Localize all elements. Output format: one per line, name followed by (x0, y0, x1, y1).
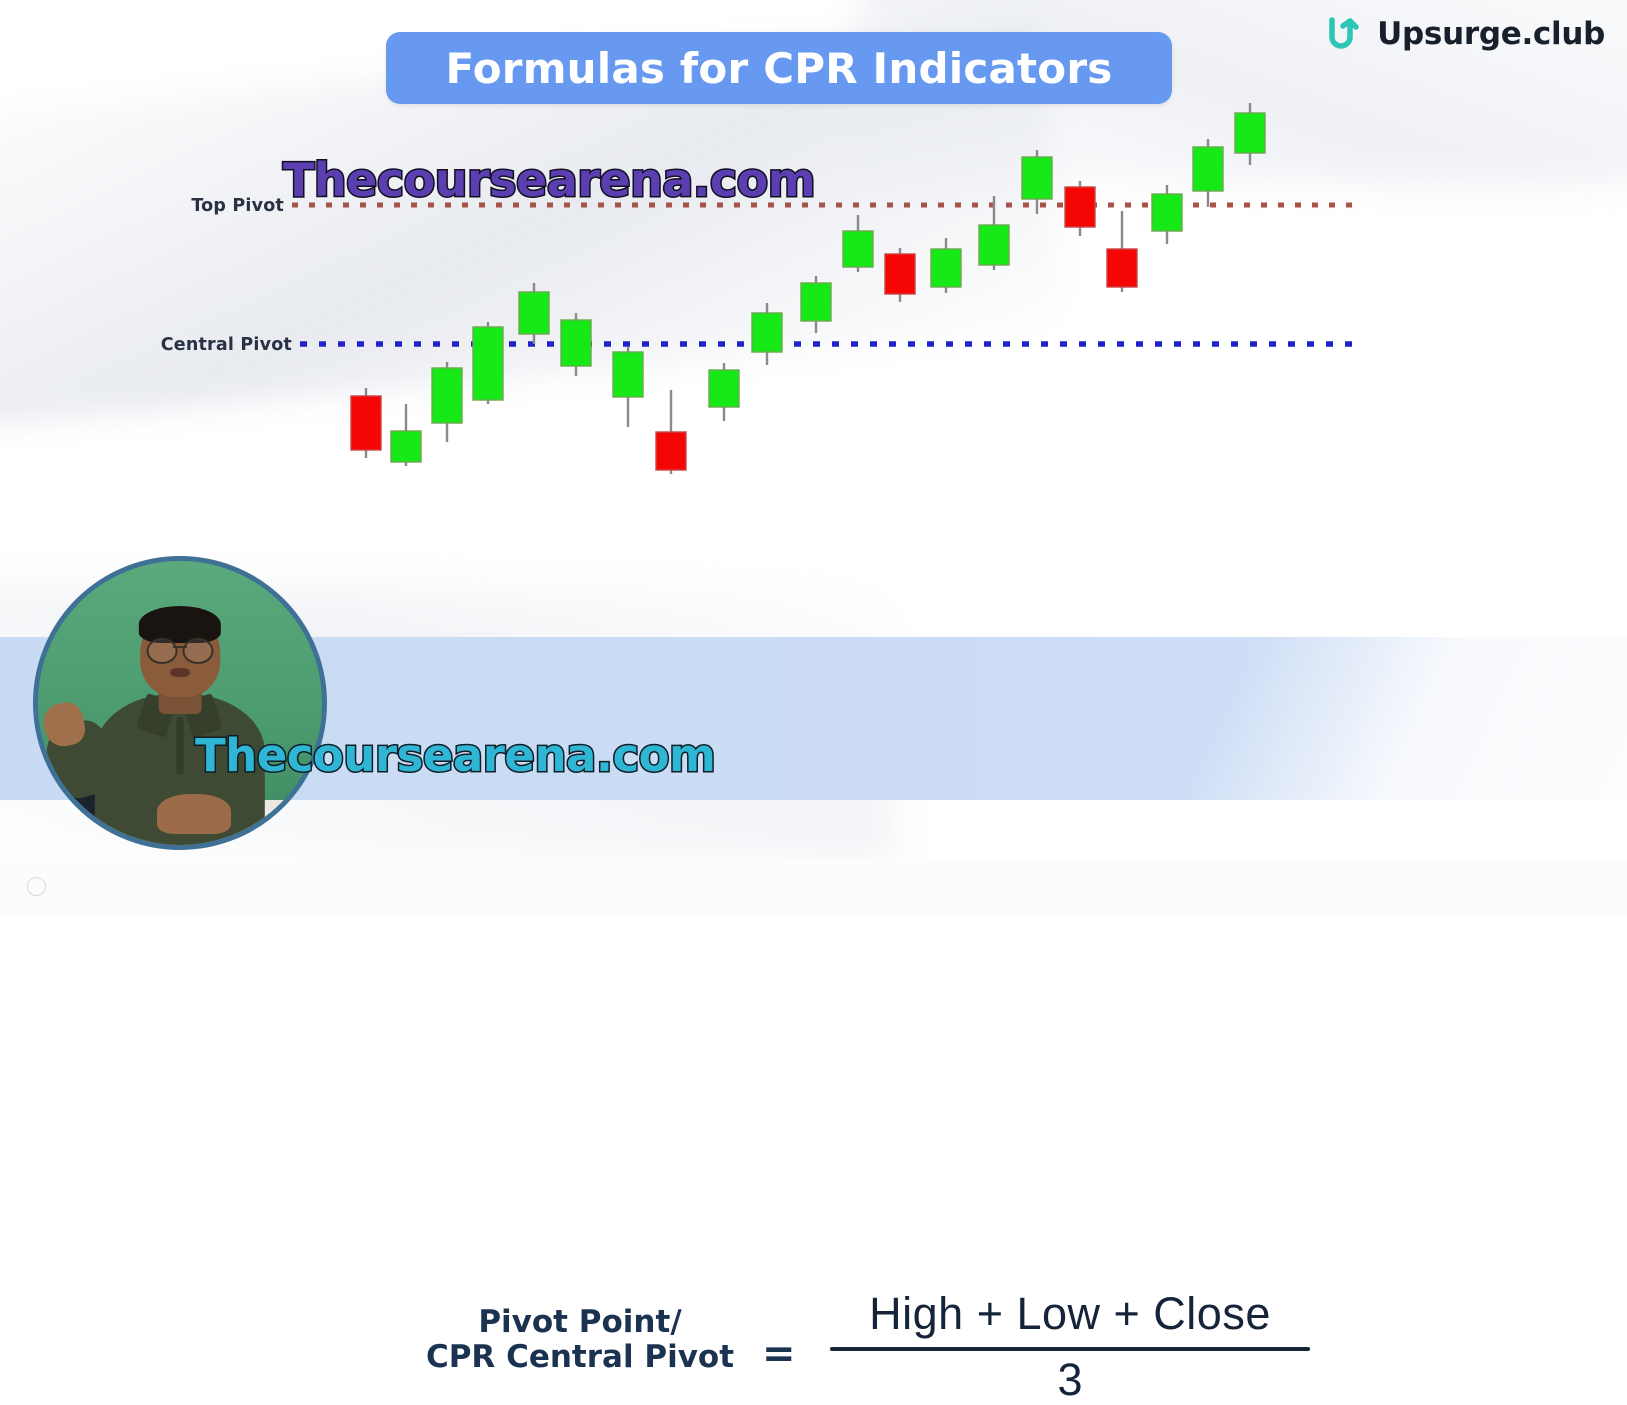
presenter-hair (139, 606, 221, 643)
candle-body-bearish (1107, 249, 1137, 287)
presenter-shirt-placket (176, 717, 183, 774)
eyeglasses-bridge (173, 646, 187, 648)
candle-body-bullish (801, 283, 831, 321)
presenter-webcam (33, 556, 327, 850)
candle-series (351, 103, 1265, 474)
fraction-denominator: 3 (830, 1355, 1310, 1405)
candle-body-bullish (931, 249, 961, 287)
fraction-numerator: High + Low + Close (830, 1289, 1310, 1339)
candle-body-bullish (1022, 157, 1052, 199)
page-title: Formulas for CPR Indicators (446, 44, 1113, 93)
candle-body-bullish (613, 352, 643, 397)
candle-body-bullish (519, 292, 549, 334)
label-central-pivot: Central Pivot (161, 335, 292, 355)
candle-body-bullish (709, 370, 739, 407)
title-banner: Formulas for CPR Indicators (386, 32, 1172, 104)
candle-body-bullish (391, 431, 421, 462)
formula-fraction: High + Low + Close 3 (830, 1289, 1310, 1404)
candle-body-bearish (1065, 187, 1095, 227)
reference-line-labels: Top PivotCentral Pivot (161, 196, 292, 355)
candle-body-bullish (473, 327, 503, 400)
candle-body-bullish (432, 368, 462, 423)
candle-body-bullish (752, 313, 782, 352)
presenter-video (38, 561, 322, 845)
eyeglasses-right-lens (182, 638, 213, 665)
upsurge-u-arrow-icon (1325, 14, 1365, 54)
eyeglasses-left-lens (147, 638, 178, 665)
candle-body-bullish (561, 320, 591, 366)
label-top-pivot: Top Pivot (191, 196, 284, 216)
candle-body-bullish (843, 231, 873, 267)
candle-body-bearish (885, 254, 915, 294)
presenter-mouth (170, 668, 190, 678)
bottom-strip (0, 862, 1627, 915)
fraction-bar (830, 1347, 1310, 1351)
candle-body-bullish (1235, 113, 1265, 153)
candle-body-bullish (979, 225, 1009, 265)
candle-body-bearish (351, 396, 381, 450)
corner-circle-mark (27, 877, 46, 896)
reference-lines (292, 205, 1356, 344)
formula-lhs-line2: CPR Central Pivot (415, 1340, 745, 1375)
brand-name: Upsurge.club (1377, 16, 1605, 52)
candle-body-bullish (1193, 147, 1223, 191)
presenter-hand-resting (157, 794, 231, 834)
formula-left-side: Pivot Point/ CPR Central Pivot (415, 1305, 745, 1374)
candle-body-bearish (656, 432, 686, 470)
brand-logo: Upsurge.club (1325, 14, 1605, 54)
candle-body-bullish (1152, 194, 1182, 231)
formula-lhs-line1: Pivot Point/ (415, 1305, 745, 1340)
equals-sign: = (762, 1331, 796, 1377)
